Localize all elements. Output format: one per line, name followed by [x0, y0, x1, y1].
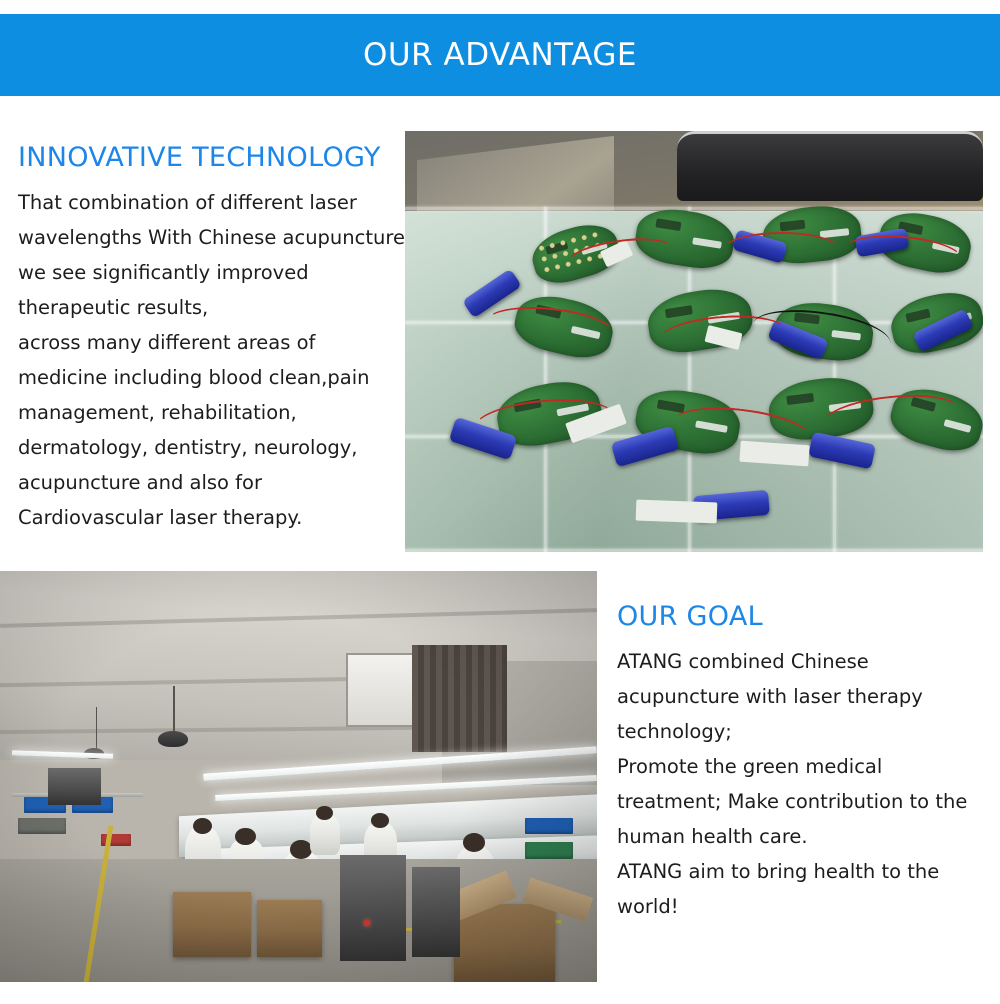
innovative-technology-line: That combination of different laser [18, 185, 410, 220]
white-connector [636, 500, 718, 524]
page-title: OUR ADVANTAGE [363, 37, 637, 73]
our-goal-line: ATANG aim to bring health to the [617, 854, 992, 889]
our-goal-line: Promote the green medical [617, 749, 992, 784]
our-goal-line: acupuncture with laser therapy [617, 679, 992, 714]
innovative-technology-line: Cardiovascular laser therapy. [18, 500, 410, 535]
innovative-technology-heading: INNOVATIVE TECHNOLOGY [18, 141, 410, 175]
innovative-technology-line: management, rehabilitation, [18, 395, 410, 430]
photo-vignette [0, 571, 597, 982]
our-goal-heading: OUR GOAL [617, 600, 992, 634]
our-goal-line: ATANG combined Chinese [617, 644, 992, 679]
red-wire [723, 232, 841, 268]
our-goal-line: technology; [617, 714, 992, 749]
innovative-technology-section: INNOVATIVE TECHNOLOGY That combination o… [18, 141, 410, 535]
innovative-technology-line: we see significantly improved [18, 255, 410, 290]
innovative-technology-line: acupuncture and also for [18, 465, 410, 500]
our-goal-line: human health care. [617, 819, 992, 854]
pcb-tray-photo [405, 131, 983, 552]
innovative-technology-line: across many different areas of [18, 325, 410, 360]
our-goal-line: world! [617, 889, 992, 924]
page-banner: OUR ADVANTAGE [0, 14, 1000, 96]
photo-dark-case [677, 131, 983, 201]
our-goal-section: OUR GOAL ATANG combined Chinese acupunct… [617, 600, 992, 924]
innovative-technology-line: dermatology, dentistry, neurology, [18, 430, 410, 465]
innovative-technology-line: medicine including blood clean,pain [18, 360, 410, 395]
our-goal-line: treatment; Make contribution to the [617, 784, 992, 819]
factory-floor-photo [0, 571, 597, 982]
innovative-technology-line: wavelengths With Chinese acupuncture [18, 220, 410, 255]
innovative-technology-line: therapeutic results, [18, 290, 410, 325]
